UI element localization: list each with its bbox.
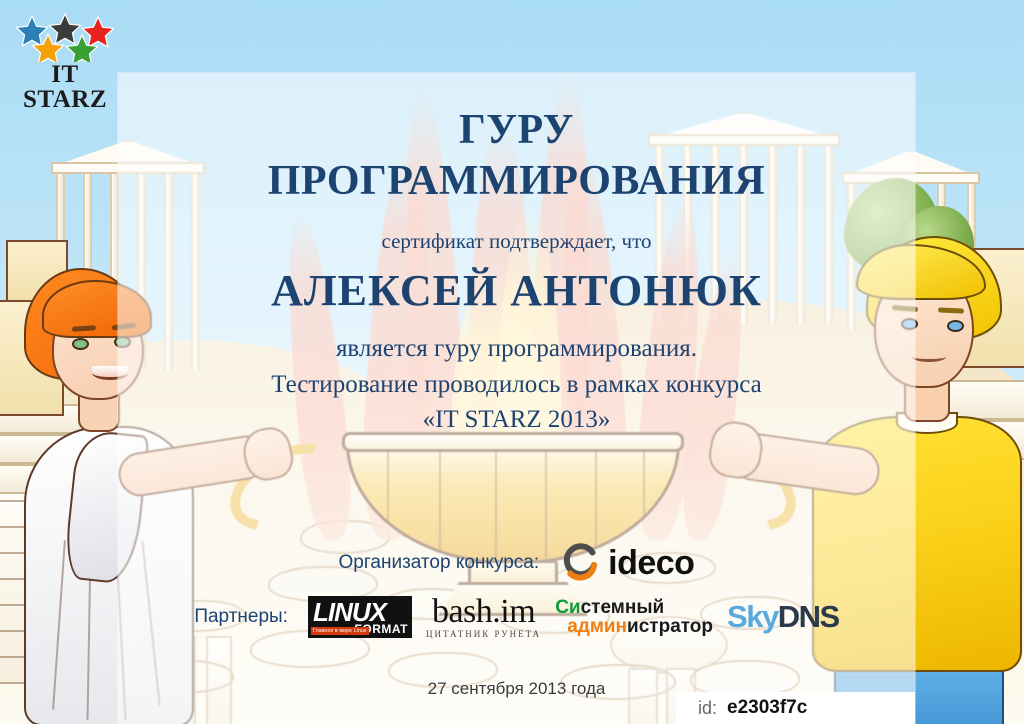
star-blue [16, 16, 47, 46]
id-value: e2303f7c [727, 697, 807, 719]
body-line-3: «IT STARZ 2013» [118, 402, 915, 438]
sysadmin-row-2: администратор [567, 617, 713, 636]
partners-row: Партнеры: LINUX FORMAT Главное в мире Li… [118, 595, 915, 639]
organizer-label: Организатор конкурса: [339, 552, 540, 574]
recipient-name: АЛЕКСЕЙ АНТОНЮК [118, 265, 915, 316]
sysadmin-row-1: Системный [555, 598, 713, 617]
linux-format-tagline: Главное в мире Linux [311, 627, 369, 635]
sysadmin-green-part: Си [555, 597, 580, 618]
partners-label: Партнеры: [194, 606, 288, 628]
bash-im-tagline: ЦИТАТНИК РУНЕТА [426, 630, 541, 639]
body-line-2: Тестирование проводилось в рамках конкур… [118, 367, 915, 403]
partner-linux-format-logo[interactable]: LINUX FORMAT Главное в мире Linux [308, 596, 412, 638]
man-eye [947, 320, 964, 332]
bash-im-word: bash.im [426, 595, 541, 629]
skydns-sky-part: Sky [727, 599, 778, 634]
ideco-wordmark: ideco [608, 544, 694, 583]
star-red [82, 17, 113, 47]
partner-bash-im-logo[interactable]: bash.im ЦИТАТНИК РУНЕТА [426, 595, 541, 639]
woman-eye [72, 338, 89, 350]
title-line-2: ПРОГРАММИРОВАНИЯ [118, 156, 915, 207]
ideco-ring-icon [561, 543, 601, 583]
certificate-content: ГУРУ ПРОГРАММИРОВАНИЯ сертификат подтвер… [118, 73, 915, 724]
body-line-1: является гуру программирования. [118, 331, 915, 367]
partner-skydns-logo[interactable]: SkyDNS [727, 599, 839, 635]
it-starz-logo: IT STARZ [12, 12, 118, 94]
man-mouth [912, 352, 946, 362]
logo-wordmark: IT STARZ [12, 62, 118, 112]
title-line-1: ГУРУ [118, 105, 915, 156]
ideco-logo[interactable]: ideco [561, 543, 694, 583]
skydns-dns-part: DNS [778, 599, 839, 634]
partner-sysadmin-logo[interactable]: Системный администратор [555, 598, 713, 636]
sysadmin-dark-part-2: истратор [627, 616, 713, 637]
certificate-subtitle: сертификат подтверждает, что [118, 229, 915, 254]
certificate-body: является гуру программирования. Тестиров… [118, 331, 915, 438]
certificate-page: IT STARZ ГУРУ ПРОГРАММИРОВАНИЯ сертифика… [0, 0, 1024, 724]
sysadmin-orange-part: админ [567, 616, 627, 637]
certificate-id-badge: id: e2303f7c [676, 692, 915, 724]
logo-stars-icon [12, 12, 118, 62]
star-dark [49, 14, 80, 44]
organizer-row: Организатор конкурса: ideco [118, 543, 915, 583]
id-label: id: [698, 698, 717, 719]
certificate-title: ГУРУ ПРОГРАММИРОВАНИЯ [118, 105, 915, 207]
sysadmin-dark-part: стемный [581, 597, 665, 618]
